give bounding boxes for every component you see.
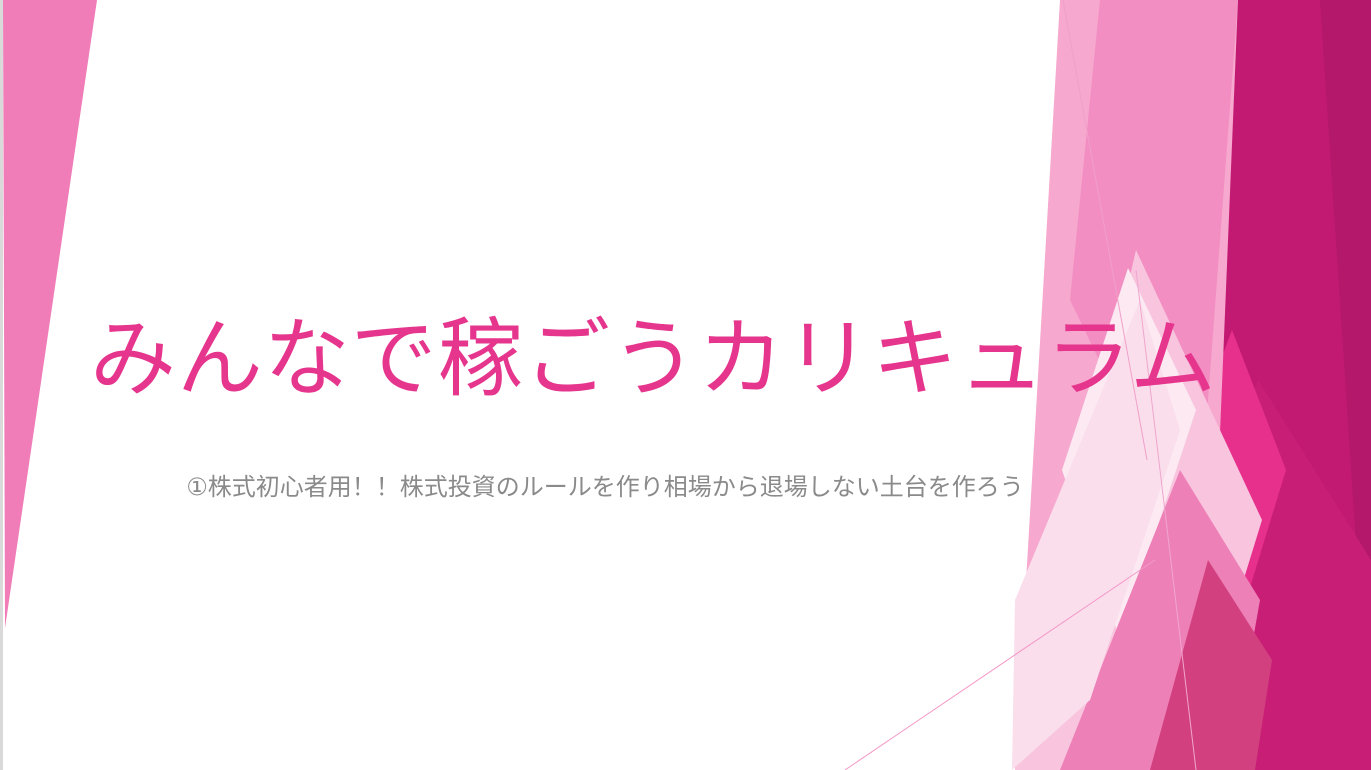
decor-shape-dark-magenta-far-right xyxy=(1240,0,1371,770)
decor-shape-rose-lower-facet xyxy=(1060,470,1260,770)
decor-hairline-lower-diagonal xyxy=(845,560,1155,770)
page-title: みんなで稼ごうカリキュラム xyxy=(90,312,1120,407)
decor-shape-left-pink-triangle xyxy=(3,0,97,628)
slide-left-edge-line xyxy=(0,0,3,770)
decor-shape-rose-dark-wedge xyxy=(1150,560,1272,770)
page-subtitle: ①株式初心者用！！株式投資のルールを作り相場から退場しない土台を作ろう xyxy=(90,472,1120,503)
presentation-slide: みんなで稼ごうカリキュラム ①株式初心者用！！株式投資のルールを作り相場から退場… xyxy=(0,0,1371,770)
title-placeholder[interactable]: みんなで稼ごうカリキュラム xyxy=(90,312,1120,407)
subtitle-placeholder[interactable]: ①株式初心者用！！株式投資のルールを作り相場から退場しない土台を作ろう xyxy=(90,472,1120,503)
decor-shape-magenta-wedge xyxy=(1120,380,1371,770)
